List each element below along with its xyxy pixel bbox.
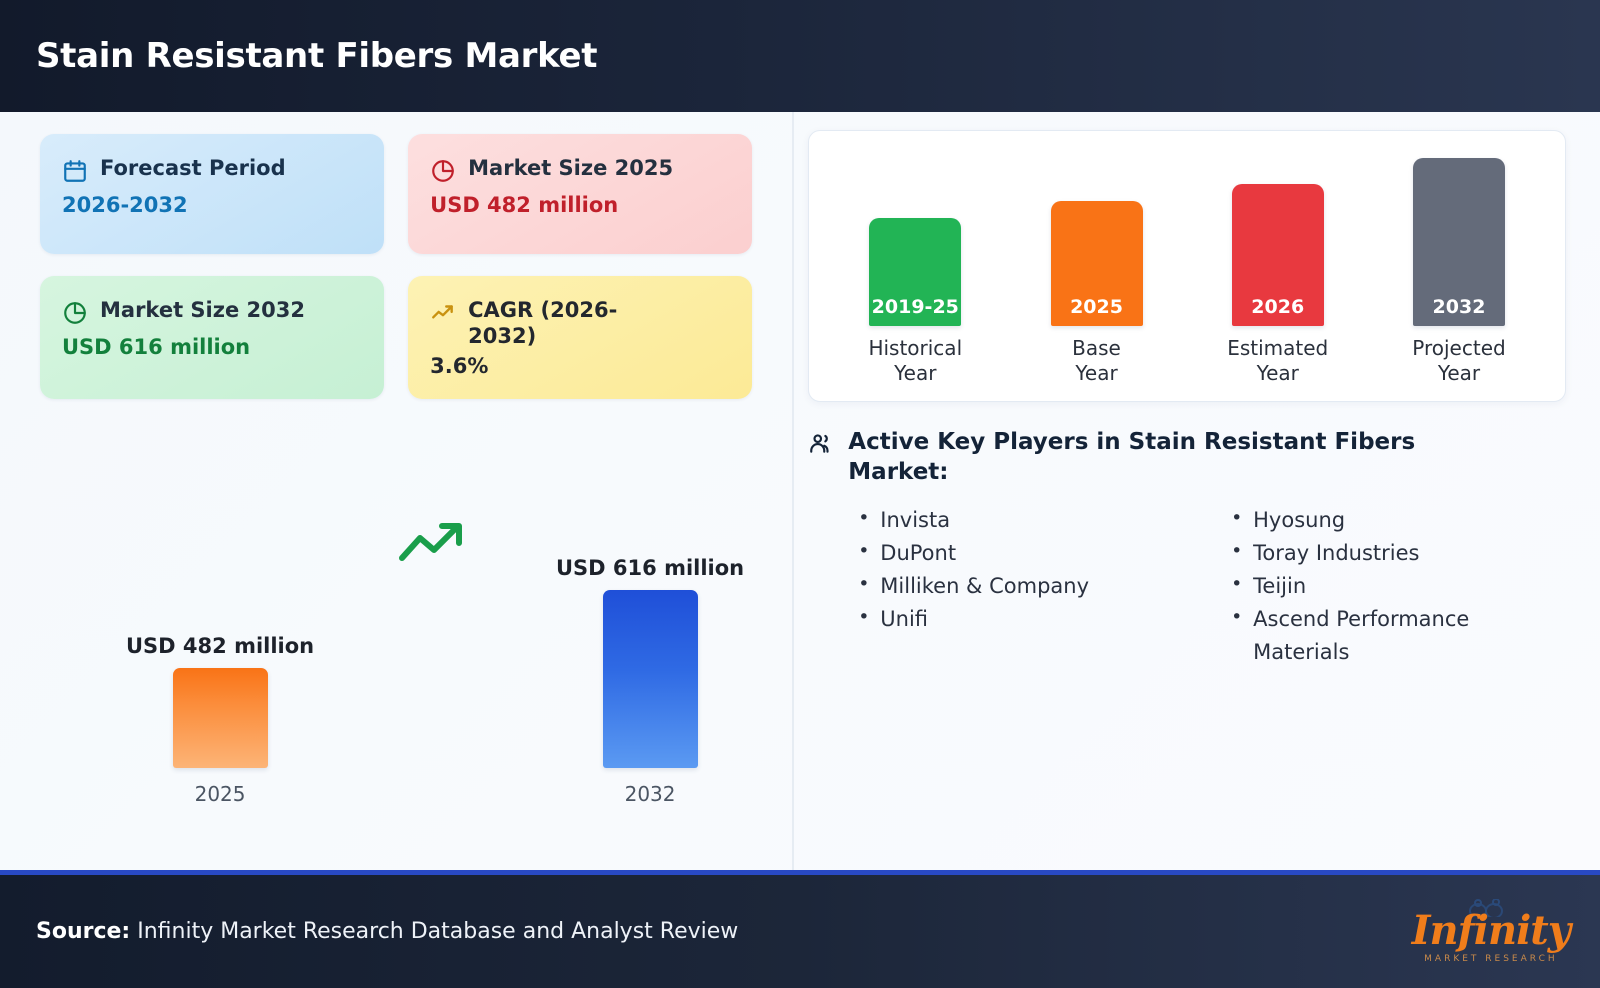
year-bar-label: 2026 <box>1251 296 1304 326</box>
page-header: Stain Resistant Fibers Market <box>0 0 1600 112</box>
year-caption-line2: Year <box>1412 361 1505 385</box>
list-item: Teijin <box>1223 570 1566 603</box>
bar-value-label: USD 482 million <box>126 634 314 658</box>
year-bar-label: 2032 <box>1433 296 1486 326</box>
year-caption-line2: Year <box>1072 361 1121 385</box>
list-item: Hyosung <box>1223 504 1566 537</box>
card-title: Market Size 2025 <box>468 156 673 182</box>
year-caption-line2: Year <box>868 361 962 385</box>
key-players-title: Active Key Players in Stain Resistant Fi… <box>848 428 1488 488</box>
source-text: Infinity Market Research Database and An… <box>137 919 738 944</box>
growth-bar-chart: USD 482 million 2025 USD 616 million 203… <box>40 405 752 870</box>
brand-logo: Infinity MARKET RESEARCH <box>1412 899 1570 964</box>
vertical-divider <box>792 112 794 870</box>
page-footer: Source: Infinity Market Research Databas… <box>0 870 1600 988</box>
year-bar-label: 2019-25 <box>872 296 959 326</box>
card-title-line1: CAGR (2026- <box>468 298 617 324</box>
source-label: Source: <box>36 919 130 944</box>
year-column-base: 2025 Base Year <box>1017 201 1177 401</box>
year-caption-estimated: Estimated Year <box>1227 336 1328 385</box>
bar-category-label: 2025 <box>195 782 246 806</box>
pie-chart-icon <box>430 158 456 188</box>
infographic-page: Stain Resistant Fibers Market Forecast P… <box>0 0 1600 988</box>
year-caption-line1: Estimated <box>1227 336 1328 360</box>
year-column-projected: 2032 Projected Year <box>1379 158 1539 401</box>
key-players-list-right: Hyosung Toray Industries Teijin Ascend P… <box>1223 504 1566 670</box>
card-value: 3.6% <box>430 353 732 379</box>
year-bar-label: 2025 <box>1070 296 1123 326</box>
card-title-line2: 2032) <box>468 324 617 350</box>
list-item: Ascend Performance Materials <box>1223 603 1566 669</box>
metric-cards: Forecast Period 2026-2032 Market Size 20… <box>40 134 752 399</box>
source-line: Source: Infinity Market Research Databas… <box>36 919 738 944</box>
year-bar-historical: 2019-25 <box>869 218 961 326</box>
year-timeline-chart: 2019-25 Historical Year 2025 Base Year <box>808 130 1566 402</box>
bar-category-label: 2032 <box>625 782 676 806</box>
page-title: Stain Resistant Fibers Market <box>36 36 597 76</box>
card-value: USD 482 million <box>430 192 732 218</box>
card-value: USD 616 million <box>62 334 364 360</box>
card-market-size-2025[interactable]: Market Size 2025 USD 482 million <box>408 134 752 254</box>
list-item: Unifi <box>850 603 1193 636</box>
card-forecast-period[interactable]: Forecast Period 2026-2032 <box>40 134 384 254</box>
year-caption-line2: Year <box>1227 361 1328 385</box>
bar-rect-2025 <box>173 668 268 768</box>
key-players-section: Active Key Players in Stain Resistant Fi… <box>808 428 1566 670</box>
year-bar-estimated: 2026 <box>1232 184 1324 326</box>
year-caption-base: Base Year <box>1072 336 1121 385</box>
calendar-icon <box>62 158 88 188</box>
year-caption-line1: Historical <box>868 336 962 360</box>
growth-arrow-icon <box>396 518 468 574</box>
year-bar-base: 2025 <box>1051 201 1143 326</box>
list-item: Invista <box>850 504 1193 537</box>
trending-up-icon <box>430 300 456 330</box>
card-cagr[interactable]: CAGR (2026- 2032) 3.6% <box>408 276 752 399</box>
year-caption-historical: Historical Year <box>868 336 962 385</box>
list-item: Milliken & Company <box>850 570 1193 603</box>
left-panel: Forecast Period 2026-2032 Market Size 20… <box>0 112 780 870</box>
year-column-historical: 2019-25 Historical Year <box>835 218 995 401</box>
bar-rect-2032 <box>603 590 698 768</box>
right-panel: 2019-25 Historical Year 2025 Base Year <box>780 112 1600 870</box>
bar-value-label: USD 616 million <box>556 556 744 580</box>
card-value: 2026-2032 <box>62 192 364 218</box>
card-title: Forecast Period <box>100 156 286 182</box>
logo-tagline: MARKET RESEARCH <box>1424 954 1557 964</box>
body-container: Forecast Period 2026-2032 Market Size 20… <box>0 112 1600 870</box>
year-caption-line1: Base <box>1072 336 1121 360</box>
card-market-size-2032[interactable]: Market Size 2032 USD 616 million <box>40 276 384 399</box>
logo-wordmark: Infinity <box>1412 911 1570 951</box>
users-icon <box>808 430 834 460</box>
list-item: DuPont <box>850 537 1193 570</box>
list-item: Toray Industries <box>1223 537 1566 570</box>
key-players-list-left: Invista DuPont Milliken & Company Unifi <box>850 504 1193 670</box>
card-title: Market Size 2032 <box>100 298 305 324</box>
chart-bar-2032: USD 616 million 2032 <box>556 556 744 806</box>
chart-bar-2025: USD 482 million 2025 <box>126 634 314 806</box>
year-column-estimated: 2026 Estimated Year <box>1198 184 1358 401</box>
year-bar-projected: 2032 <box>1413 158 1505 326</box>
year-caption-line1: Projected <box>1412 336 1505 360</box>
pie-chart-icon <box>62 300 88 330</box>
year-caption-projected: Projected Year <box>1412 336 1505 385</box>
key-players-columns: Invista DuPont Milliken & Company Unifi … <box>808 504 1566 670</box>
